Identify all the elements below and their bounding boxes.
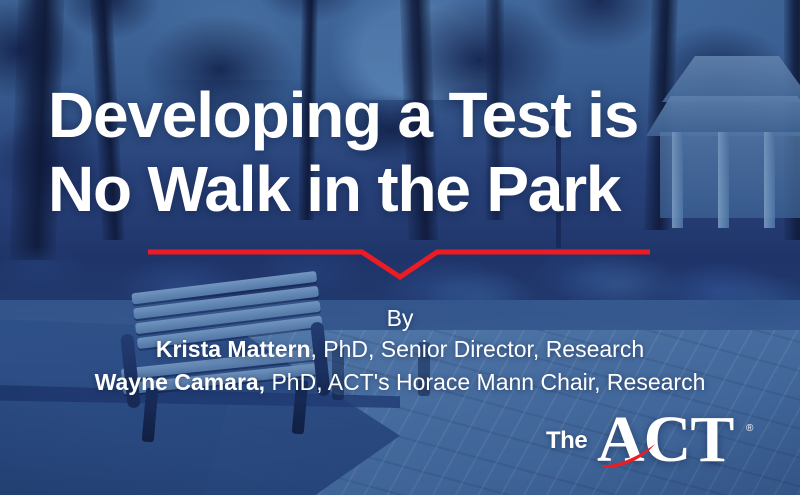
poster-canvas: Developing a Test is No Walk in the Park… bbox=[0, 0, 800, 495]
act-logo[interactable]: The ACT ® bbox=[543, 418, 768, 480]
title-line-2: No Walk in the Park bbox=[48, 152, 760, 226]
title-line-1: Developing a Test is bbox=[48, 78, 760, 152]
author-credentials: , PhD, Senior Director, Research bbox=[311, 336, 645, 362]
author-line-2: Wayne Camara, PhD, ACT's Horace Mann Cha… bbox=[0, 366, 800, 399]
author-name: Wayne Camara, bbox=[95, 369, 265, 395]
poster-content: Developing a Test is No Walk in the Park… bbox=[0, 0, 800, 495]
author-name: Krista Mattern bbox=[156, 336, 311, 362]
page-title: Developing a Test is No Walk in the Park bbox=[48, 78, 760, 226]
author-credentials: PhD, ACT's Horace Mann Chair, Research bbox=[265, 369, 705, 395]
red-divider-line bbox=[0, 228, 800, 294]
by-label: By bbox=[0, 303, 800, 333]
logo-the-text: The bbox=[546, 427, 587, 455]
author-line-1: Krista Mattern, PhD, Senior Director, Re… bbox=[0, 333, 800, 366]
registered-trademark-icon: ® bbox=[746, 424, 753, 434]
byline-block: By Krista Mattern, PhD, Senior Director,… bbox=[0, 303, 800, 399]
act-red-swoosh-icon bbox=[601, 444, 663, 468]
divider-polyline bbox=[148, 252, 650, 277]
